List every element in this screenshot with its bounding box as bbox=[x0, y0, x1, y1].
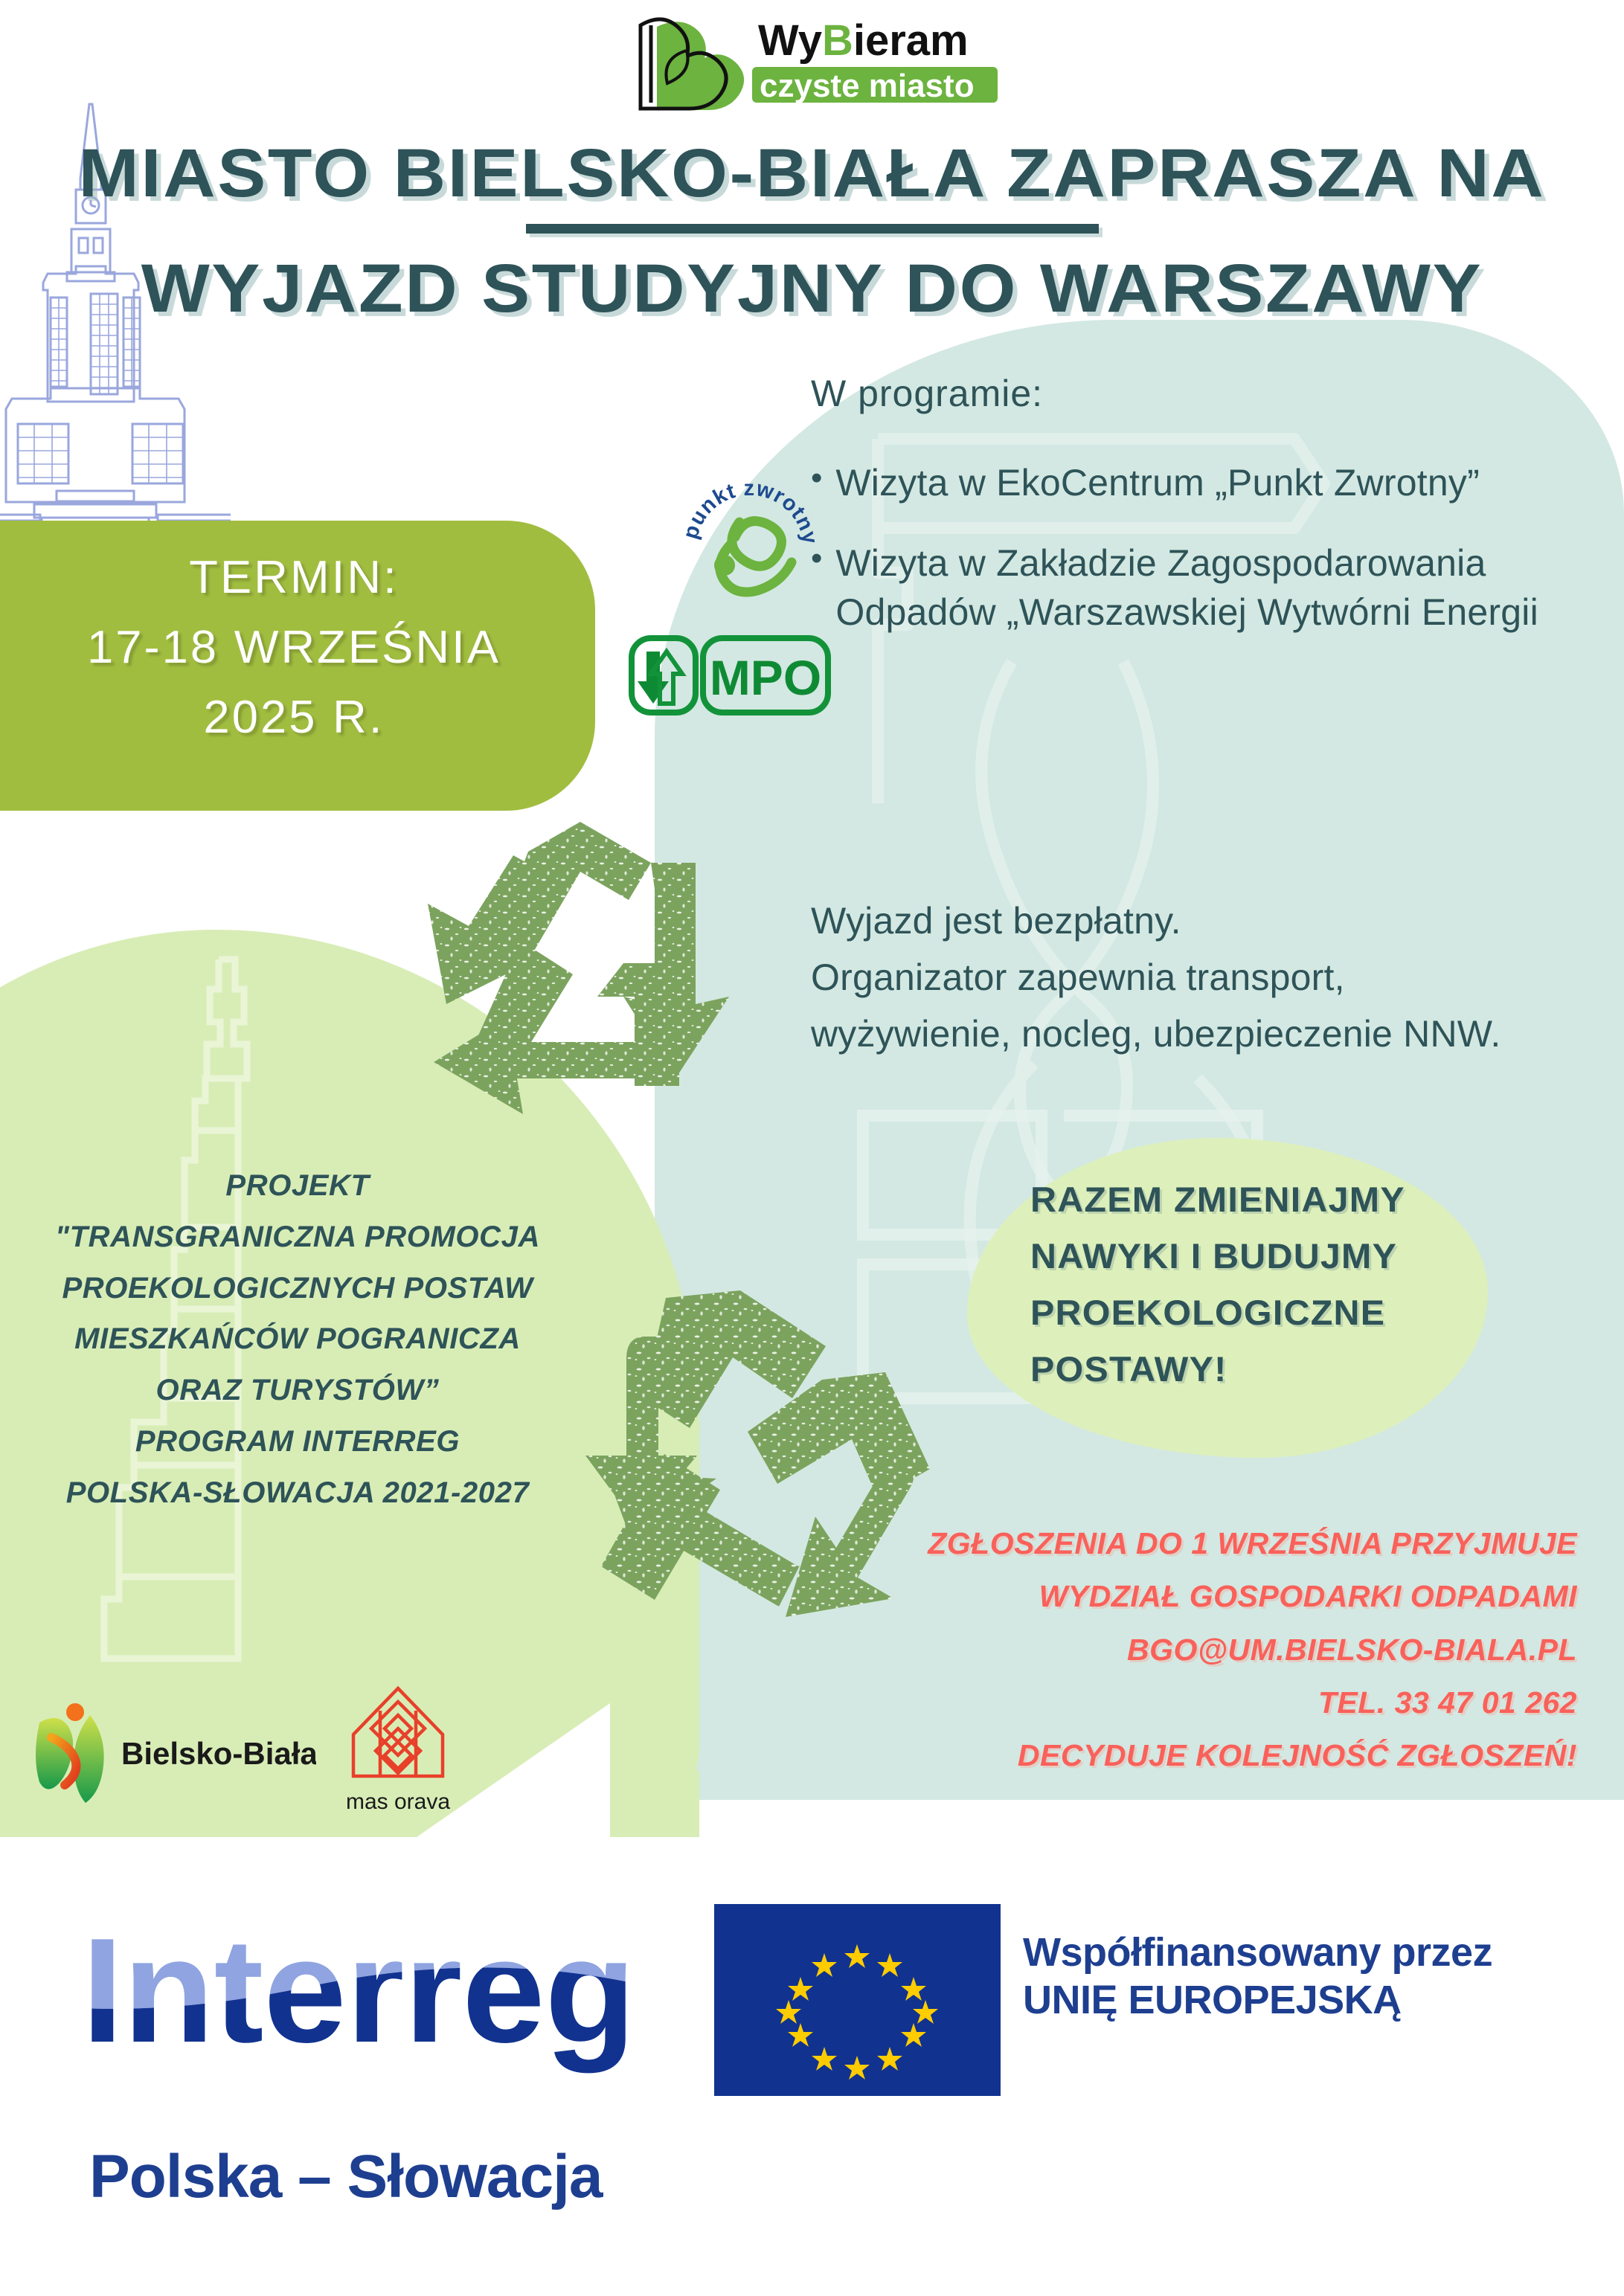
project-line-2: "TRANSGRANICZNA PROMOCJA bbox=[0, 1212, 595, 1263]
interreg-logo: Interreg Interreg bbox=[82, 1904, 670, 2075]
project-line-5: ORAZ TURYSTÓW” bbox=[0, 1365, 595, 1416]
project-description: PROJEKT "TRANSGRANICZNA PROMOCJA PROEKOL… bbox=[0, 1160, 595, 1519]
eu-line-2: UNIĘ EUROPEJSKĄ bbox=[1023, 1977, 1492, 2025]
punkt-zwrotny-text: punkt zwrotny bbox=[684, 477, 815, 547]
mpo-text: MPO bbox=[710, 650, 821, 705]
title-line-1: MIASTO BIELSKO-BIAŁA ZAPRASZA NA bbox=[0, 138, 1624, 210]
brand-name-bottom: czyste miasto bbox=[760, 68, 975, 104]
eu-flag-icon bbox=[714, 1904, 1001, 2096]
project-line-4: MIESZKAŃCÓW POGRANICZA bbox=[0, 1313, 595, 1365]
slogan-text: RAZEM ZMIENIAJMY NAWYKI I BUDUJMY PROEKO… bbox=[1030, 1171, 1506, 1398]
title-underline bbox=[526, 224, 1099, 234]
slogan-line-1: RAZEM ZMIENIAJMY bbox=[1030, 1171, 1506, 1228]
date-box: TERMIN: 17-18 WRZEŚNIA 2025 R. bbox=[0, 543, 588, 753]
contact-info: ZGŁOSZENIA DO 1 WRZEŚNIA PRZYJMUJE WYDZI… bbox=[863, 1517, 1577, 1783]
poster-title: MIASTO BIELSKO-BIAŁA ZAPRASZA NA WYJAZD … bbox=[0, 138, 1624, 325]
bielsko-biala-text: Bielsko-Biała bbox=[121, 1736, 316, 1771]
svg-text:punkt zwrotny: punkt zwrotny bbox=[684, 477, 815, 547]
program-item: • Wizyta w Zakładzie Zagospodarowania Od… bbox=[811, 538, 1585, 637]
project-line-3: PROEKOLOGICZNYCH POSTAW bbox=[0, 1263, 595, 1314]
poster-canvas: WyBieram czyste miasto MIASTO BIELSKO-BI… bbox=[0, 0, 1624, 2296]
eu-line-1: Współfinansowany przez bbox=[1023, 1929, 1492, 1977]
free-trip-info: Wyjazd jest bezpłatny. Organizator zapew… bbox=[811, 893, 1585, 1062]
contact-phone[interactable]: TEL. 33 47 01 262 bbox=[863, 1676, 1577, 1729]
mas-orava-text: mas orava bbox=[346, 1789, 450, 1814]
wybieram-czyste-miasto-logo: WyBieram czyste miasto bbox=[621, 6, 1008, 118]
bielsko-biala-logo: Bielsko-Biała bbox=[33, 1696, 316, 1807]
date-value: 17-18 WRZEŚNIA bbox=[0, 613, 594, 683]
slogan-line-2: NAWYKI I BUDUJMY bbox=[1030, 1228, 1506, 1284]
free-info-line-2: Organizator zapewnia transport, bbox=[811, 949, 1585, 1006]
contact-line-5: DECYDUJE KOLEJNOŚĆ ZGŁOSZEŃ! bbox=[863, 1729, 1577, 1782]
program-item-text: Wizyta w Zakładzie Zagospodarowania Odpa… bbox=[835, 538, 1585, 637]
contact-line-1: ZGŁOSZENIA DO 1 WRZEŚNIA PRZYJMUJE bbox=[863, 1517, 1577, 1570]
slogan-line-3: PROEKOLOGICZNE bbox=[1030, 1284, 1506, 1341]
eu-cofunding-text: Współfinansowany przez UNIĘ EUROPEJSKĄ bbox=[1023, 1929, 1492, 2024]
brand-name-top: WyBieram bbox=[758, 16, 969, 65]
recycling-symbol-icon bbox=[424, 811, 781, 1131]
program-heading: W programie: bbox=[811, 372, 1585, 415]
contact-line-2: WYDZIAŁ GOSPODARKI ODPADAMI bbox=[863, 1570, 1577, 1623]
program-section: W programie: • Wizyta w EkoCentrum „Punk… bbox=[811, 372, 1585, 656]
free-info-line-3: wyżywienie, nocleg, ubezpieczenie NNW. bbox=[811, 1006, 1585, 1062]
slogan-line-4: POSTAWY! bbox=[1030, 1341, 1506, 1398]
mas-orava-logo: mas orava bbox=[338, 1681, 458, 1822]
mpo-logo: MPO bbox=[629, 634, 831, 717]
program-item-text: Wizyta w EkoCentrum „Punkt Zwrotny” bbox=[835, 458, 1480, 507]
program-item: • Wizyta w EkoCentrum „Punkt Zwrotny” bbox=[811, 458, 1585, 507]
project-line-1: PROJEKT bbox=[0, 1160, 595, 1212]
title-line-2: WYJAZD STUDYJNY DO WARSZAWY bbox=[0, 253, 1624, 326]
date-year: 2025 R. bbox=[0, 683, 594, 753]
punkt-zwrotny-logo: punkt zwrotny bbox=[684, 476, 815, 606]
project-line-7: POLSKA-SŁOWACJA 2021-2027 bbox=[0, 1467, 595, 1519]
free-info-line-1: Wyjazd jest bezpłatny. bbox=[811, 893, 1585, 949]
program-name-text: Polska – Słowacja bbox=[89, 2142, 603, 2212]
project-line-6: PROGRAM INTERREG bbox=[0, 1416, 595, 1467]
contact-email[interactable]: BGO@UM.BIELSKO-BIALA.PL bbox=[863, 1624, 1577, 1676]
date-label: TERMIN: bbox=[0, 543, 594, 613]
